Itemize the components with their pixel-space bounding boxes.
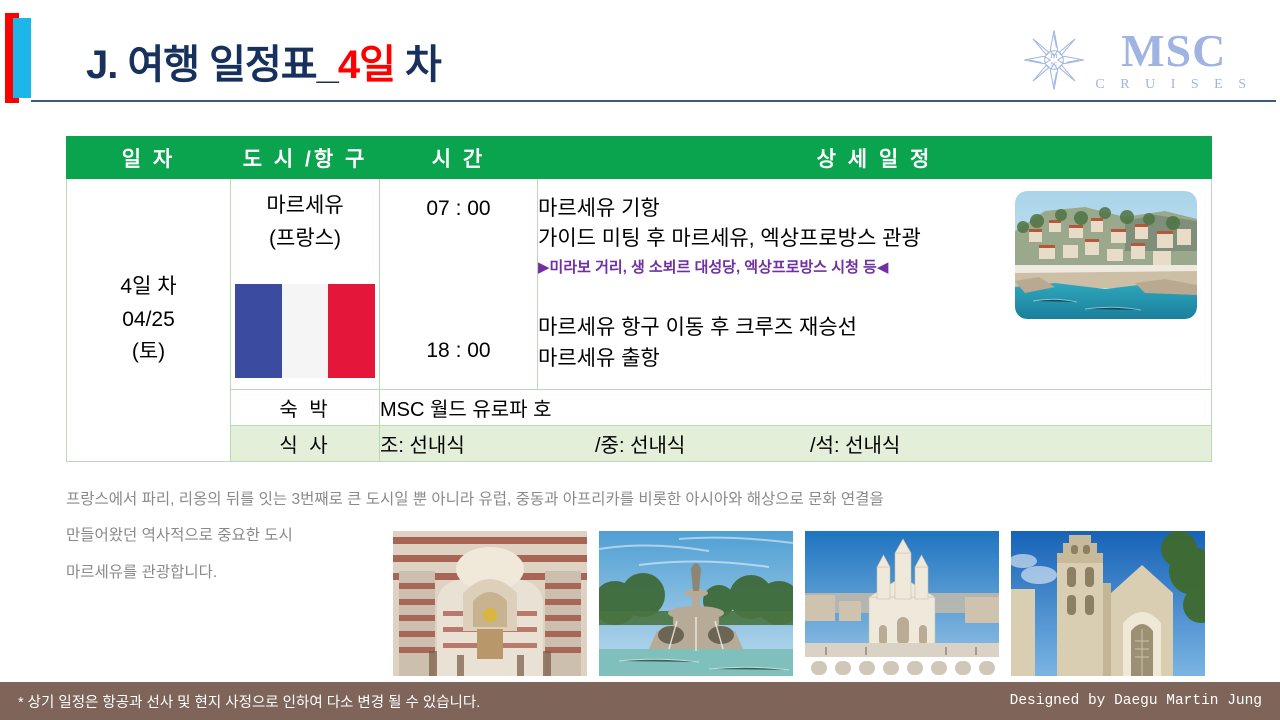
page-title-suffix: 차 bbox=[395, 43, 441, 87]
meal-dinner: /석: 선내식 bbox=[810, 429, 900, 458]
msc-wordmark: MSC C R U I S E S bbox=[1095, 28, 1252, 92]
column-header-date: 일 자 bbox=[67, 137, 231, 179]
saint-sauveur-cathedral-photo bbox=[1011, 531, 1205, 676]
svg-text:m: m bbox=[1051, 51, 1059, 60]
column-header-detail: 상 세 일 정 bbox=[538, 137, 1212, 179]
footer-note: * 상기 일정은 항공과 선사 및 현지 사정으로 인하여 다소 변경 될 수 … bbox=[18, 691, 480, 712]
marseille-cathedral-photo bbox=[805, 531, 999, 676]
city-cell: 마르세유 (프랑스) bbox=[231, 179, 380, 390]
city-country: (프랑스) bbox=[231, 223, 379, 256]
msc-name: MSC bbox=[1121, 28, 1226, 74]
meal-lunch: /중: 선내식 bbox=[595, 429, 810, 458]
table-row-lodging: 숙 박 MSC 월드 유로파 호 bbox=[67, 390, 1212, 426]
date-weekday: (토) bbox=[67, 336, 230, 369]
detail-cell: 마르세유 기항 가이드 미팅 후 마르세유, 엑상프로방스 관광 ▶미라보 거리… bbox=[538, 179, 1212, 390]
city-name: 마르세유 bbox=[231, 190, 379, 223]
footer-credit: Designed by Daegu Martin Jung bbox=[1010, 693, 1262, 709]
rotonde-fountain-photo bbox=[599, 531, 793, 676]
date-value: 04/25 bbox=[67, 304, 230, 337]
marseille-coast-photo bbox=[1015, 191, 1197, 319]
column-header-time: 시 간 bbox=[380, 137, 538, 179]
footer-bar: * 상기 일정은 항공과 선사 및 현지 사정으로 인하여 다소 변경 될 수 … bbox=[0, 682, 1280, 720]
page-title: J. 여행 일정표_4일 차 bbox=[86, 32, 441, 90]
page-title-prefix: J. 여행 일정표_ bbox=[86, 43, 338, 87]
time-cell: 07 : 00 18 : 00 bbox=[380, 179, 538, 390]
msc-logo: m sc MSC C R U I S E S bbox=[1023, 22, 1252, 98]
photo-strip bbox=[393, 531, 1208, 676]
title-divider bbox=[31, 100, 1276, 102]
time-morning: 07 : 00 bbox=[380, 197, 537, 221]
lodging-label: 숙 박 bbox=[231, 390, 380, 426]
meals-label: 식 사 bbox=[231, 426, 380, 462]
date-day: 4일 차 bbox=[67, 271, 230, 304]
detail-line-4: 마르세유 출항 bbox=[538, 344, 1211, 374]
lodging-value: MSC 월드 유로파 호 bbox=[380, 390, 1212, 426]
itinerary-table: 일 자 도 시 /항 구 시 간 상 세 일 정 4일 차 04/25 (토) … bbox=[66, 136, 1212, 462]
notre-dame-interior-photo bbox=[393, 531, 587, 676]
meal-breakfast: 조: 선내식 bbox=[380, 429, 595, 458]
table-header-row: 일 자 도 시 /항 구 시 간 상 세 일 정 bbox=[67, 137, 1212, 179]
table-row-main: 4일 차 04/25 (토) 마르세유 (프랑스) 07 : 00 18 : 0… bbox=[67, 179, 1212, 390]
table-row-meals: 식 사 조: 선내식 /중: 선내식 /석: 선내식 bbox=[67, 426, 1212, 462]
date-cell: 4일 차 04/25 (토) bbox=[67, 179, 231, 462]
france-flag-icon bbox=[235, 284, 375, 378]
description-line-1: 프랑스에서 파리, 리옹의 뒤를 잇는 3번째로 큰 도시일 뿐 아니라 유럽,… bbox=[66, 491, 884, 508]
time-evening: 18 : 00 bbox=[380, 339, 537, 363]
svg-text:sc: sc bbox=[1051, 60, 1058, 68]
column-header-city: 도 시 /항 구 bbox=[231, 137, 380, 179]
page-title-highlight: 4일 bbox=[338, 43, 395, 87]
meals-value: 조: 선내식 /중: 선내식 /석: 선내식 bbox=[380, 426, 1212, 462]
msc-tagline: C R U I S E S bbox=[1095, 78, 1252, 92]
accent-bar-cyan bbox=[13, 18, 31, 98]
compass-star-icon: m sc bbox=[1023, 29, 1085, 91]
